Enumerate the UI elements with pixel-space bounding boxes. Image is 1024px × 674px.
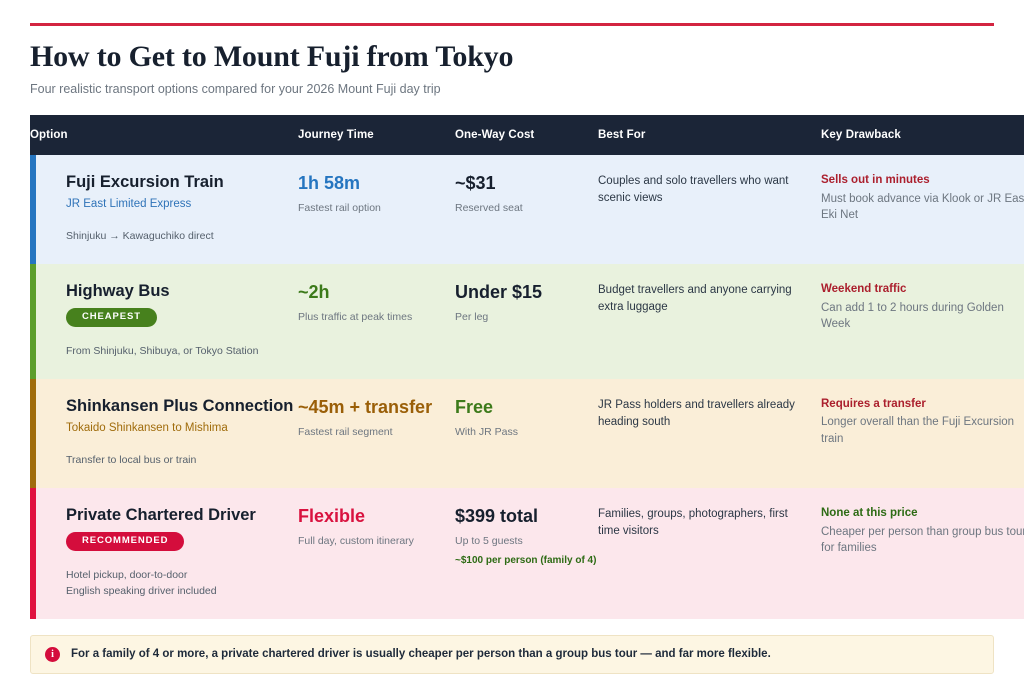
option-note: Transfer to local bus or train — [66, 452, 288, 468]
journey-time-note: Fastest rail option — [298, 201, 445, 215]
option-name: Shinkansen Plus Connection — [66, 397, 288, 416]
option-name: Highway Bus — [66, 282, 288, 301]
journey-time-value: 1h 58m — [298, 173, 445, 193]
drawback-title: Weekend traffic — [821, 282, 1024, 298]
page-subtitle: Four realistic transport options compare… — [30, 82, 994, 97]
cost-value: Under $15 — [455, 282, 588, 302]
best-for-text: Budget travellers and anyone carrying ex… — [598, 282, 811, 317]
column-header-drawback[interactable]: Key Drawback — [821, 115, 1024, 155]
table-row[interactable]: Private Chartered Driver RECOMMENDED Hot… — [30, 488, 1024, 619]
table-row[interactable]: Highway Bus CHEAPEST From Shinjuku, Shib… — [30, 264, 1024, 379]
option-notes: From Shinjuku, Shibuya, or Tokyo Station — [66, 343, 288, 359]
journey-time-value: ~2h — [298, 282, 445, 302]
drawback-body: Cheaper per person than group bus tours … — [821, 524, 1024, 557]
journey-time-note: Full day, custom itinerary — [298, 534, 445, 548]
cost-value: Free — [455, 397, 588, 417]
option-subtitle: JR East Limited Express — [66, 197, 288, 212]
info-icon: i — [45, 647, 60, 662]
table-row[interactable]: Shinkansen Plus Connection Tokaido Shink… — [30, 379, 1024, 488]
best-for-text: JR Pass holders and travellers already h… — [598, 397, 811, 432]
cell-cost: $399 total Up to 5 guests ~$100 per pers… — [455, 488, 598, 619]
drawback-body: Must book advance via Klook or JR East E… — [821, 191, 1024, 224]
cell-drawback: None at this price Cheaper per person th… — [821, 488, 1024, 619]
cell-journey-time: Flexible Full day, custom itinerary — [298, 488, 455, 619]
cell-option: Highway Bus CHEAPEST From Shinjuku, Shib… — [30, 264, 298, 379]
cell-best-for: Couples and solo travellers who want sce… — [598, 155, 821, 264]
comparison-table-wrap: Option Journey Time One-Way Cost Best Fo… — [30, 115, 994, 619]
cell-drawback: Weekend traffic Can add 1 to 2 hours dur… — [821, 264, 1024, 379]
cell-best-for: Families, groups, photographers, first t… — [598, 488, 821, 619]
drawback-body: Can add 1 to 2 hours during Golden Week — [821, 300, 1024, 333]
table-row[interactable]: Fuji Excursion Train JR East Limited Exp… — [30, 155, 1024, 264]
option-subtitle: Tokaido Shinkansen to Mishima — [66, 421, 288, 436]
journey-time-value: ~45m + transfer — [298, 397, 445, 417]
option-notes: Hotel pickup, door-to-door English speak… — [66, 567, 288, 600]
option-note: From Shinjuku, Shibuya, or Tokyo Station — [66, 343, 288, 359]
cost-note: Per leg — [455, 310, 588, 324]
column-header-option[interactable]: Option — [30, 115, 298, 155]
status-badge-recommended: RECOMMENDED — [66, 532, 184, 551]
drawback-title: None at this price — [821, 506, 1024, 522]
cost-value: $399 total — [455, 506, 588, 526]
cell-option: Private Chartered Driver RECOMMENDED Hot… — [30, 488, 298, 619]
cost-note: With JR Pass — [455, 425, 588, 439]
cost-value: ~$31 — [455, 173, 588, 193]
journey-time-value: Flexible — [298, 506, 445, 526]
page-title: How to Get to Mount Fuji from Tokyo — [30, 40, 994, 73]
cell-cost: Free With JR Pass — [455, 379, 598, 488]
option-name: Private Chartered Driver — [66, 506, 288, 525]
cell-cost: ~$31 Reserved seat — [455, 155, 598, 264]
best-for-text: Families, groups, photographers, first t… — [598, 506, 811, 541]
comparison-table: Option Journey Time One-Way Cost Best Fo… — [30, 115, 1024, 619]
cost-note: Reserved seat — [455, 201, 588, 215]
cell-journey-time: 1h 58m Fastest rail option — [298, 155, 455, 264]
best-for-text: Couples and solo travellers who want sce… — [598, 173, 811, 208]
cost-per-person-note: ~$100 per person (family of 4) — [455, 554, 588, 567]
page-header: How to Get to Mount Fuji from Tokyo Four… — [30, 26, 994, 97]
cell-drawback: Sells out in minutes Must book advance v… — [821, 155, 1024, 264]
cell-best-for: Budget travellers and anyone carrying ex… — [598, 264, 821, 379]
option-note: English speaking driver included — [66, 583, 288, 599]
drawback-title: Sells out in minutes — [821, 173, 1024, 189]
option-notes: Shinjuku → Kawaguchiko direct — [66, 228, 288, 244]
cell-best-for: JR Pass holders and travellers already h… — [598, 379, 821, 488]
cell-journey-time: ~2h Plus traffic at peak times — [298, 264, 455, 379]
option-note: Shinjuku → Kawaguchiko direct — [66, 228, 288, 244]
column-header-time[interactable]: Journey Time — [298, 115, 455, 155]
table-body: Fuji Excursion Train JR East Limited Exp… — [30, 155, 1024, 619]
option-name: Fuji Excursion Train — [66, 173, 288, 192]
cell-option: Shinkansen Plus Connection Tokaido Shink… — [30, 379, 298, 488]
drawback-body: Longer overall than the Fuji Excursion t… — [821, 414, 1024, 447]
status-badge-cheapest: CHEAPEST — [66, 308, 157, 327]
cell-cost: Under $15 Per leg — [455, 264, 598, 379]
journey-time-note: Fastest rail segment — [298, 425, 445, 439]
footer-callout: i For a family of 4 or more, a private c… — [30, 635, 994, 674]
drawback-title: Requires a transfer — [821, 397, 1024, 413]
journey-time-note: Plus traffic at peak times — [298, 310, 445, 324]
cell-journey-time: ~45m + transfer Fastest rail segment — [298, 379, 455, 488]
option-note: Hotel pickup, door-to-door — [66, 567, 288, 583]
table-header: Option Journey Time One-Way Cost Best Fo… — [30, 115, 1024, 155]
table-header-row: Option Journey Time One-Way Cost Best Fo… — [30, 115, 1024, 155]
comparison-page: How to Get to Mount Fuji from Tokyo Four… — [0, 23, 1024, 637]
cell-drawback: Requires a transfer Longer overall than … — [821, 379, 1024, 488]
cost-note: Up to 5 guests — [455, 534, 588, 548]
option-notes: Transfer to local bus or train — [66, 452, 288, 468]
column-header-cost[interactable]: One-Way Cost — [455, 115, 598, 155]
callout-text: For a family of 4 or more, a private cha… — [71, 647, 771, 662]
cell-option: Fuji Excursion Train JR East Limited Exp… — [30, 155, 298, 264]
column-header-best-for[interactable]: Best For — [598, 115, 821, 155]
